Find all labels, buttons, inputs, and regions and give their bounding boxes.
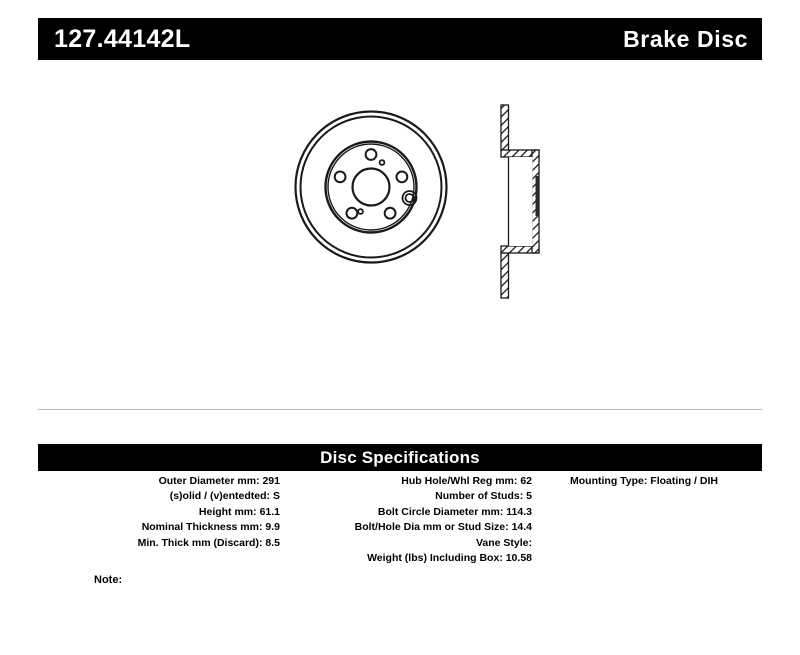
spec-value: 8.5 (265, 537, 280, 549)
note-area: Note: (38, 570, 762, 588)
spec-label: Hub Hole/Whl Reg mm: (401, 475, 517, 487)
spec-label: Height mm: (199, 506, 257, 518)
spec-row: Bolt/Hole Dia mm or Stud Size: 14.4 (290, 520, 532, 535)
spec-row: Hub Hole/Whl Reg mm: 62 (290, 474, 532, 489)
header-bar: 127.44142L Brake Disc (38, 18, 762, 60)
spec-value: 61.1 (260, 506, 280, 518)
spec-value: 62 (520, 475, 532, 487)
spec-row: Height mm: 61.1 (38, 505, 280, 520)
spec-value: S (273, 490, 280, 502)
spec-value: 291 (262, 475, 280, 487)
brake-disc-edge-cross-section (501, 105, 539, 298)
spec-label: Min. Thick mm (Discard): (138, 537, 263, 549)
spec-label: Number of Studs: (435, 490, 523, 502)
spec-title: Disc Specifications (320, 449, 480, 466)
spec-row: Vane Style: (290, 536, 532, 551)
note-label: Note: (94, 574, 122, 586)
spec-label: Outer Diameter mm: (159, 475, 260, 487)
spec-row: Weight (lbs) Including Box: 10.58 (290, 551, 532, 566)
spec-row: Outer Diameter mm: 291 (38, 474, 280, 489)
section-divider (38, 409, 762, 410)
spec-value: 9.9 (265, 521, 280, 533)
spec-column-middle: Hub Hole/Whl Reg mm: 62 Number of Studs:… (290, 474, 540, 566)
brake-disc-face-view (296, 112, 447, 263)
part-number: 127.44142L (54, 27, 190, 52)
spec-label: (s)olid / (v)entedted: (170, 490, 270, 502)
spec-row: Mounting Type: Floating / DIH (570, 474, 762, 489)
spec-row: (s)olid / (v)entedted: S (38, 489, 280, 504)
spec-table: Outer Diameter mm: 291 (s)olid / (v)ente… (38, 474, 762, 566)
spec-value: 14.4 (512, 521, 532, 533)
spec-value: 10.58 (506, 552, 532, 564)
spec-label: Bolt Circle Diameter mm: (378, 506, 503, 518)
spec-column-right: Mounting Type: Floating / DIH (540, 474, 762, 489)
spec-label: Bolt/Hole Dia mm or Stud Size: (355, 521, 509, 533)
spec-label: Vane Style: (476, 537, 532, 549)
spec-sheet-page: 127.44142L Brake Disc (0, 0, 800, 655)
spec-row: Bolt Circle Diameter mm: 114.3 (290, 505, 532, 520)
spec-title-bar: Disc Specifications (38, 444, 762, 471)
spec-value: Floating / DIH (650, 475, 718, 487)
spec-label: Nominal Thickness mm: (142, 521, 263, 533)
spec-row: Number of Studs: 5 (290, 489, 532, 504)
spec-label: Weight (lbs) Including Box: (367, 552, 503, 564)
product-type-label: Brake Disc (623, 28, 748, 51)
spec-row: Min. Thick mm (Discard): 8.5 (38, 536, 280, 551)
product-illustration (38, 70, 762, 400)
spec-value: 114.3 (506, 506, 532, 518)
spec-row: Nominal Thickness mm: 9.9 (38, 520, 280, 535)
spec-label: Mounting Type: (570, 475, 647, 487)
spec-column-left: Outer Diameter mm: 291 (s)olid / (v)ente… (38, 474, 290, 551)
spec-value: 5 (526, 490, 532, 502)
